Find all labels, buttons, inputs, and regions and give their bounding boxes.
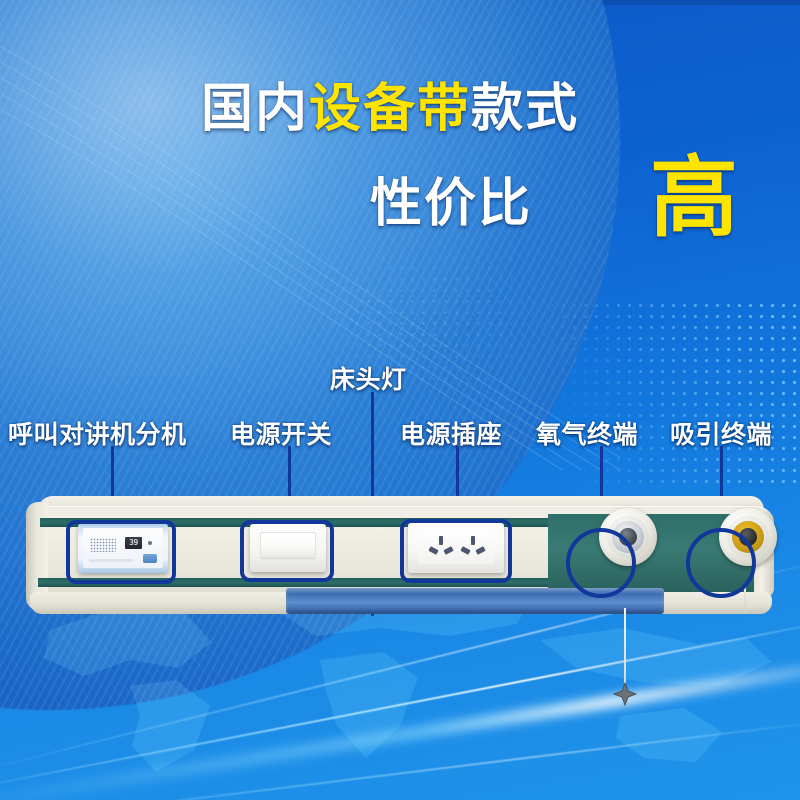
pull-cord[interactable] bbox=[624, 608, 626, 686]
headline-text-2b: 高 bbox=[650, 154, 738, 242]
headline-block: 国内设备带款式 性价比 高 bbox=[0, 80, 800, 252]
callout-label-bed-lamp: 床头灯 bbox=[330, 360, 407, 396]
headline-text-1a: 国内 bbox=[201, 80, 309, 138]
headline-text-2a: 性价比 bbox=[370, 174, 532, 234]
highlight-circle-oxygen bbox=[566, 528, 636, 598]
headline-text-1c: 款式 bbox=[471, 80, 579, 138]
callout-label-power-switch: 电源开关 bbox=[230, 415, 332, 451]
pull-cord-short[interactable] bbox=[744, 586, 746, 614]
callout-label-power-socket: 电源插座 bbox=[400, 415, 502, 451]
promo-banner: 国内设备带款式 性价比 高 呼叫对讲机分机 电源开关 床头灯 电源插座 氧气终端… bbox=[0, 0, 800, 800]
highlight-box-power-switch bbox=[240, 520, 334, 582]
callout-label-oxygen: 氧气终端 bbox=[536, 415, 638, 451]
headline-text-1b: 设备带 bbox=[309, 80, 471, 138]
highlight-box-intercom bbox=[66, 520, 176, 584]
pull-cord-handle-icon[interactable] bbox=[613, 682, 637, 706]
headline-line-2: 性价比 高 bbox=[0, 160, 800, 252]
callout-label-intercom: 呼叫对讲机分机 bbox=[8, 415, 187, 451]
halftone-dots-center bbox=[330, 230, 580, 380]
highlight-circle-suction bbox=[686, 528, 756, 598]
headline-line-1: 国内设备带款式 bbox=[0, 80, 800, 138]
highlight-box-power-socket bbox=[400, 519, 512, 583]
